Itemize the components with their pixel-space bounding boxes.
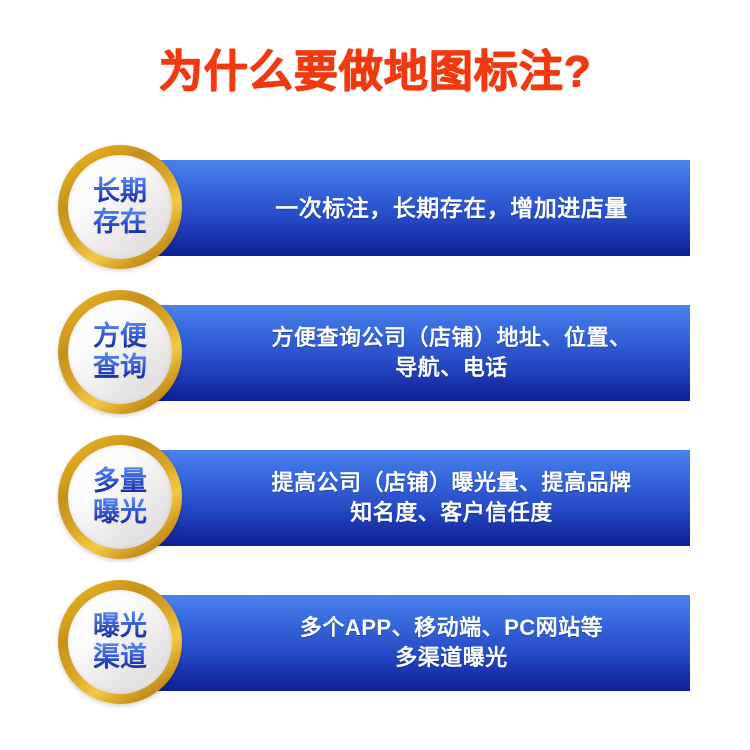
- benefit-row-2: 方便查询公司（店铺）地址、位置、 导航、电话 方便 查询: [0, 287, 750, 417]
- benefit-text-line-4a: 多个APP、移动端、PC网站等: [300, 613, 603, 643]
- benefit-text-line-1: 一次标注，长期存在，增加进店量: [275, 193, 628, 223]
- benefit-text-line-3b: 知名度、客户信任度: [350, 498, 553, 528]
- benefit-text-line-2a: 方便查询公司（店铺）地址、位置、: [271, 323, 631, 353]
- benefit-text-line-2b: 导航、电话: [395, 353, 508, 383]
- benefit-badge-line-2a: 方便: [93, 321, 147, 352]
- benefit-badge-1: 长期 存在: [58, 145, 182, 269]
- page-title-container: 为什么要做地图标注?: [0, 44, 750, 100]
- benefit-badge-line-1b: 存在: [93, 207, 147, 238]
- benefit-badge-inner-2: 方便 查询: [68, 300, 172, 404]
- benefit-badge-line-4a: 曝光: [93, 611, 147, 642]
- benefit-badge-line-2b: 查询: [93, 352, 147, 383]
- page-title: 为什么要做地图标注?: [159, 44, 592, 100]
- benefit-badge-3: 多量 曝光: [58, 435, 182, 559]
- benefit-badge-inner-3: 多量 曝光: [68, 445, 172, 549]
- benefit-badge-4: 曝光 渠道: [58, 580, 182, 704]
- benefit-badge-line-3b: 曝光: [93, 497, 147, 528]
- benefit-bar-4: 多个APP、移动端、PC网站等 多渠道曝光: [145, 595, 690, 691]
- benefit-badge-line-3a: 多量: [93, 466, 147, 497]
- benefit-text-line-4b: 多渠道曝光: [395, 643, 508, 673]
- benefit-badge-inner-1: 长期 存在: [68, 155, 172, 259]
- benefit-bar-1: 一次标注，长期存在，增加进店量: [145, 160, 690, 256]
- benefit-row-4: 多个APP、移动端、PC网站等 多渠道曝光 曝光 渠道: [0, 577, 750, 707]
- benefit-text-line-3a: 提高公司（店铺）曝光量、提高品牌: [271, 468, 631, 498]
- benefit-badge-line-1a: 长期: [93, 176, 147, 207]
- benefit-badge-2: 方便 查询: [58, 290, 182, 414]
- poster-root: 为什么要做地图标注? 一次标注，长期存在，增加进店量 长期 存在 方便查询公司（…: [0, 0, 750, 750]
- benefit-row-3: 提高公司（店铺）曝光量、提高品牌 知名度、客户信任度 多量 曝光: [0, 432, 750, 562]
- benefit-bar-3: 提高公司（店铺）曝光量、提高品牌 知名度、客户信任度: [145, 450, 690, 546]
- benefit-bar-2: 方便查询公司（店铺）地址、位置、 导航、电话: [145, 305, 690, 401]
- benefit-badge-line-4b: 渠道: [93, 642, 147, 673]
- benefit-badge-inner-4: 曝光 渠道: [68, 590, 172, 694]
- benefit-row-1: 一次标注，长期存在，增加进店量 长期 存在: [0, 142, 750, 272]
